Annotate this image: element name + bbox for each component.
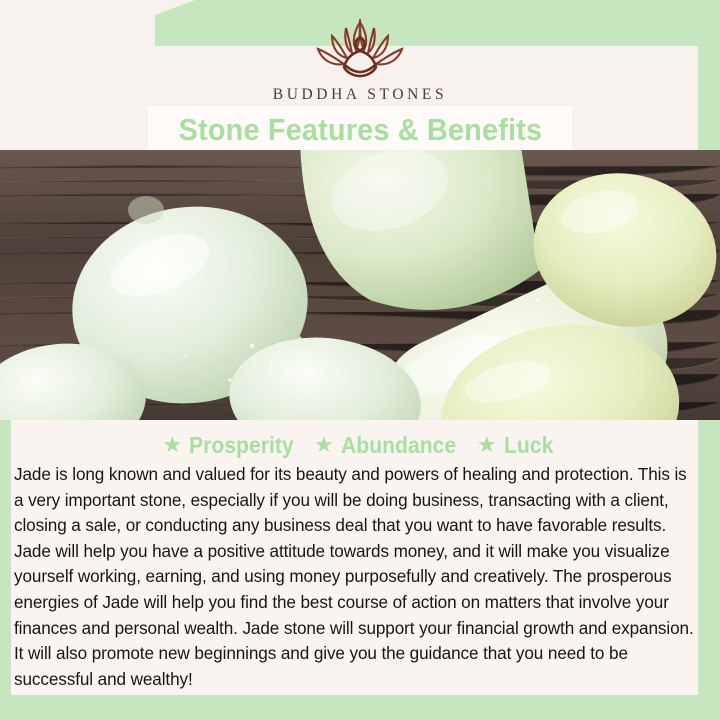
star-icon: ★ [314, 434, 334, 456]
benefit-label: Luck [504, 432, 553, 459]
stone-photo-image [0, 150, 720, 420]
star-icon: ★ [163, 434, 183, 456]
benefit-item: ★ Abundance [314, 432, 466, 459]
brand-name: BUDDHA STONES [273, 86, 447, 104]
benefits-row: ★ Prosperity ★ Abundance ★ Luck [0, 429, 720, 461]
benefit-item: ★ Prosperity [163, 432, 304, 459]
benefit-label: Prosperity [189, 432, 294, 459]
stone-photo: Jade [0, 150, 720, 420]
star-icon: ★ [477, 434, 497, 456]
benefit-label: Abundance [341, 432, 456, 459]
infographic-card: BUDDHA STONES Stone Features & Benefits [0, 0, 720, 720]
frame-accent-bottom [0, 694, 560, 720]
benefit-item: ★ Luck [477, 432, 557, 459]
description-text: Jade is long known and valued for its be… [14, 462, 696, 692]
lotus-meditation-icon [294, 16, 426, 82]
title-banner: Stone Features & Benefits [148, 106, 572, 154]
page-title: Stone Features & Benefits [178, 112, 542, 148]
